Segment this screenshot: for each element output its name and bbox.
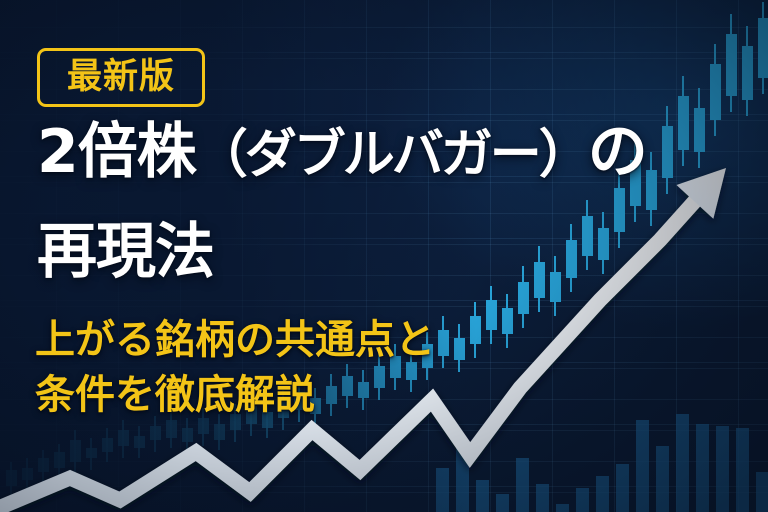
subtitle-line-2: 条件を徹底解説 xyxy=(35,375,315,415)
headline-parenthetical: （ダブルバガー） xyxy=(196,125,588,185)
subtitle-line-1: 上がる銘柄の共通点と xyxy=(35,320,435,360)
stock-banner-image: 最新版 2倍株（ダブルバガー）の 再現法 上がる銘柄の共通点と 条件を徹底解説 xyxy=(0,0,768,512)
headline-main-term: 2倍株 xyxy=(37,117,196,187)
latest-version-badge: 最新版 xyxy=(37,48,205,107)
badge-label: 最新版 xyxy=(67,60,175,95)
headline-line-2: 再現法 xyxy=(37,222,214,283)
headline-particle: の xyxy=(588,117,647,187)
headline-line-1: 2倍株（ダブルバガー）の xyxy=(37,122,697,183)
